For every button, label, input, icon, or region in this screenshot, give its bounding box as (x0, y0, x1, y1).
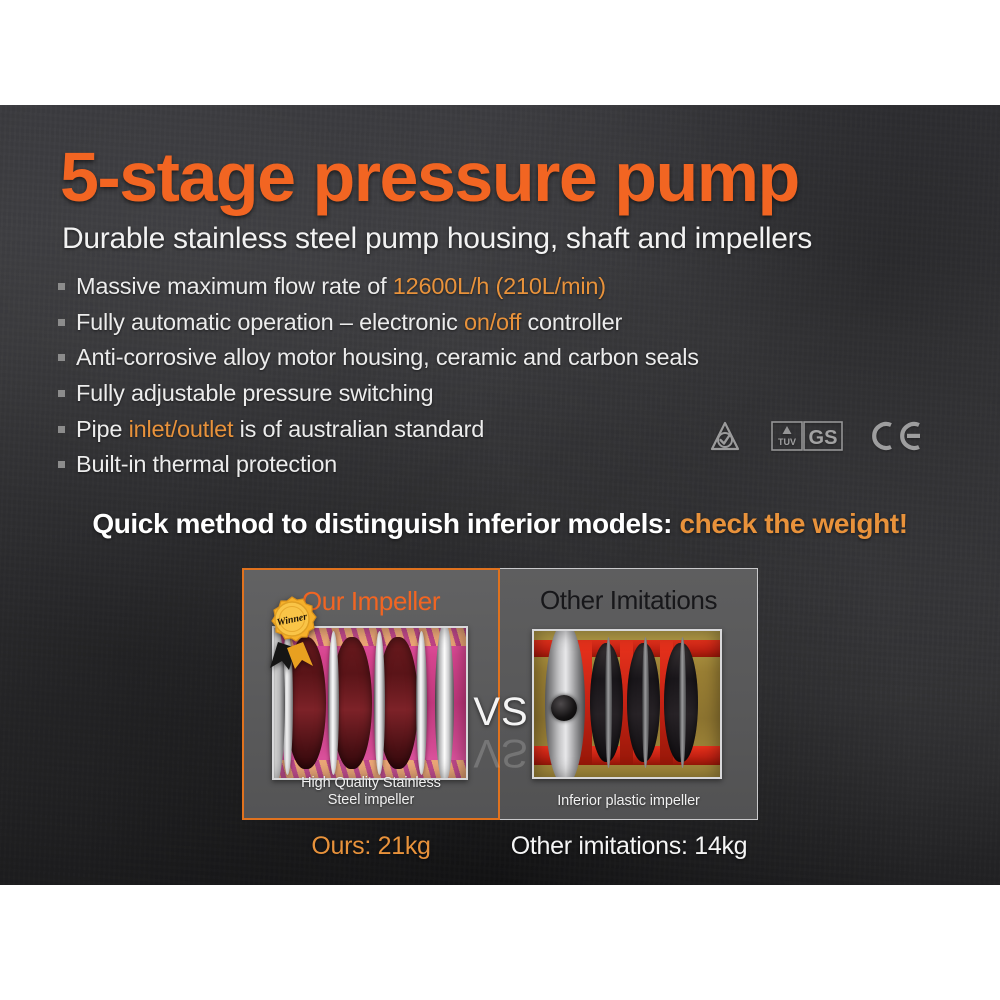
theirs-weight: Other imitations: 14kg (500, 832, 758, 861)
tuv-gs-certification-icon: TUV GS (771, 419, 843, 453)
feature-text: Massive maximum flow rate of 12600L/h (2… (76, 272, 606, 301)
ours-caption-line2: Steel impeller (328, 792, 414, 808)
feature-text-post: is of australian standard (233, 416, 484, 442)
svg-text:TUV: TUV (778, 437, 796, 447)
feature-text: Fully adjustable pressure switching (76, 379, 433, 408)
bullet-marker-icon (58, 390, 65, 397)
theirs-title: Other Imitations (500, 585, 757, 616)
ours-caption-line1: High Quality Stainless (301, 775, 441, 791)
feature-text-pre: Massive maximum flow rate of (76, 273, 393, 299)
theirs-caption-line1: Inferior plastic impeller (557, 793, 700, 809)
bullet-marker-icon (58, 426, 65, 433)
feature-text: Pipe inlet/outlet is of australian stand… (76, 415, 484, 444)
product-infographic: 5-stage pressure pump Durable stainless … (0, 0, 1000, 1000)
feature-text-pre: Pipe (76, 416, 129, 442)
rcm-certification-icon (705, 418, 745, 454)
list-item: Massive maximum flow rate of 12600L/h (2… (58, 272, 758, 301)
list-item: Fully adjustable pressure switching (58, 379, 758, 408)
weight-comparison: Ours: 21kg Other imitations: 14kg (242, 832, 758, 861)
theirs-caption: Inferior plastic impeller (500, 793, 757, 811)
bullet-marker-icon (58, 283, 65, 290)
page-subtitle: Durable stainless steel pump housing, sh… (62, 222, 812, 256)
feature-text-highlight: inlet/outlet (129, 416, 234, 442)
feature-text-highlight: on/off (464, 309, 521, 335)
ours-weight: Ours: 21kg (242, 832, 500, 861)
versus-label-reflection: VS (470, 733, 532, 773)
list-item: Fully automatic operation – electronic o… (58, 308, 758, 337)
ce-certification-icon (869, 418, 925, 454)
winner-badge-icon: Winner (256, 594, 330, 672)
ours-caption: High Quality Stainless Steel impeller (244, 775, 498, 810)
list-item: Anti-corrosive alloy motor housing, cera… (58, 343, 758, 372)
feature-list: Massive maximum flow rate of 12600L/h (2… (58, 272, 758, 486)
feature-text-highlight: 12600L/h (210L/min) (393, 273, 606, 299)
bullet-marker-icon (58, 319, 65, 326)
page-title: 5-stage pressure pump (60, 142, 799, 212)
comparison-side-theirs: Other Imitations (500, 568, 758, 820)
list-item: Built-in thermal protection (58, 450, 758, 479)
comparison-heading-plain: Quick method to distinguish inferior mod… (92, 508, 679, 539)
plastic-impeller-photo (532, 629, 722, 779)
versus-label: VS (470, 692, 532, 732)
bullet-marker-icon (58, 461, 65, 468)
comparison-heading-accent: check the weight! (680, 508, 908, 539)
feature-text: Built-in thermal protection (76, 450, 337, 479)
feature-text-pre: Fully automatic operation – electronic (76, 309, 464, 335)
list-item: Pipe inlet/outlet is of australian stand… (58, 415, 758, 444)
comparison-heading: Quick method to distinguish inferior mod… (0, 508, 1000, 540)
feature-text: Fully automatic operation – electronic o… (76, 308, 622, 337)
feature-text-post: controller (521, 309, 622, 335)
feature-text-pre: Anti-corrosive alloy motor housing, cera… (76, 344, 699, 370)
feature-text-pre: Fully adjustable pressure switching (76, 380, 433, 406)
feature-text: Anti-corrosive alloy motor housing, cera… (76, 343, 699, 372)
feature-text-pre: Built-in thermal protection (76, 451, 337, 477)
certification-logos: TUV GS (705, 418, 925, 454)
svg-text:GS: GS (809, 427, 838, 449)
bullet-marker-icon (58, 354, 65, 361)
